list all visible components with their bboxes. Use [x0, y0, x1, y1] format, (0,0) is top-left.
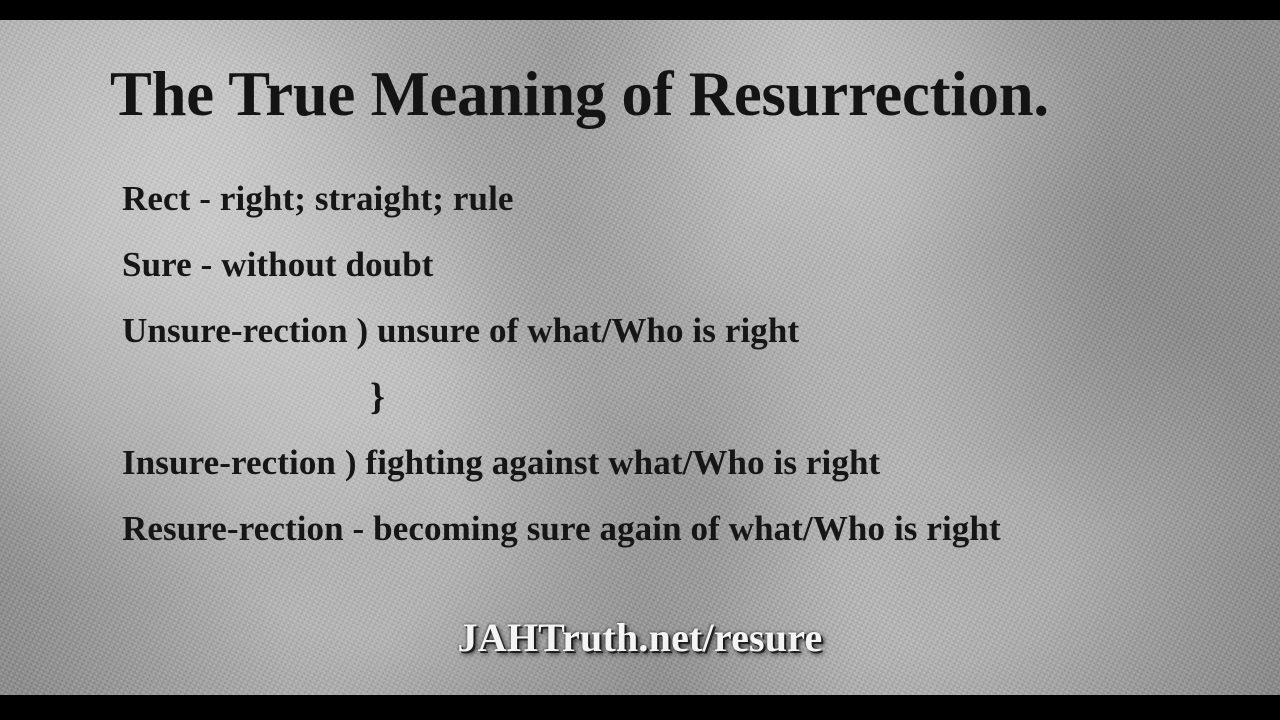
- definition-line-resure-rection: Resure-rection - becoming sure again of …: [122, 496, 1242, 562]
- definition-line-sure: Sure - without doubt: [122, 232, 1242, 298]
- definition-line-rect: Rect - right; straight; rule: [122, 166, 1242, 232]
- letterbox-bar-bottom: [0, 695, 1280, 720]
- letterbox-bar-top: [0, 0, 1280, 20]
- definition-line-insure-rection: Insure-rection ) fighting against what/W…: [122, 430, 1242, 496]
- footer-website-url: JAHTruth.net/resure: [0, 612, 1280, 664]
- grouping-brace: }: [122, 364, 1242, 430]
- definition-list: Rect - right; straight; rule Sure - with…: [122, 166, 1242, 562]
- slide-canvas: The True Meaning of Resurrection. Rect -…: [0, 0, 1280, 720]
- slide-content: The True Meaning of Resurrection. Rect -…: [0, 0, 1280, 720]
- definition-line-unsure-rection: Unsure-rection ) unsure of what/Who is r…: [122, 298, 1242, 364]
- slide-title: The True Meaning of Resurrection.: [110, 55, 1195, 133]
